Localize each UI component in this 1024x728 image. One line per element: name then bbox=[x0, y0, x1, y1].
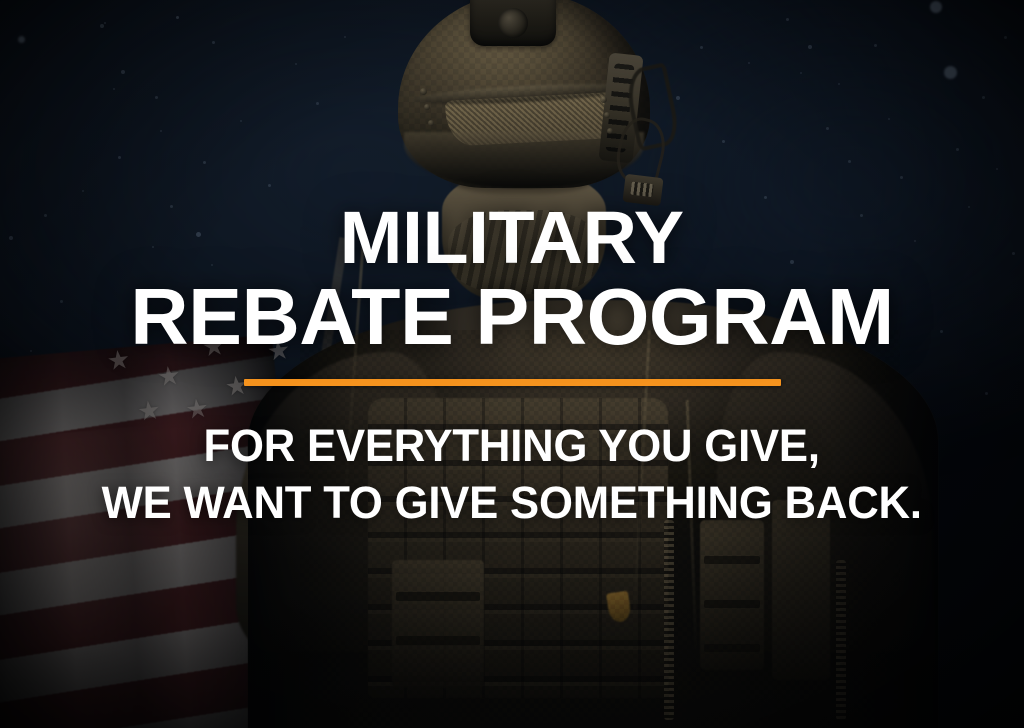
orange-divider-rule bbox=[244, 379, 781, 386]
headline-line-1: MILITARY bbox=[340, 202, 684, 274]
subheadline-line-2: WE WANT TO GIVE SOMETHING BACK. bbox=[102, 477, 922, 529]
headline-line-2: REBATE PROGRAM bbox=[130, 278, 894, 356]
military-rebate-banner: MILITARY REBATE PROGRAM FOR EVERYTHING Y… bbox=[0, 0, 1024, 728]
subheadline-line-1: FOR EVERYTHING YOU GIVE, bbox=[204, 420, 820, 472]
banner-content: MILITARY REBATE PROGRAM FOR EVERYTHING Y… bbox=[0, 0, 1024, 728]
